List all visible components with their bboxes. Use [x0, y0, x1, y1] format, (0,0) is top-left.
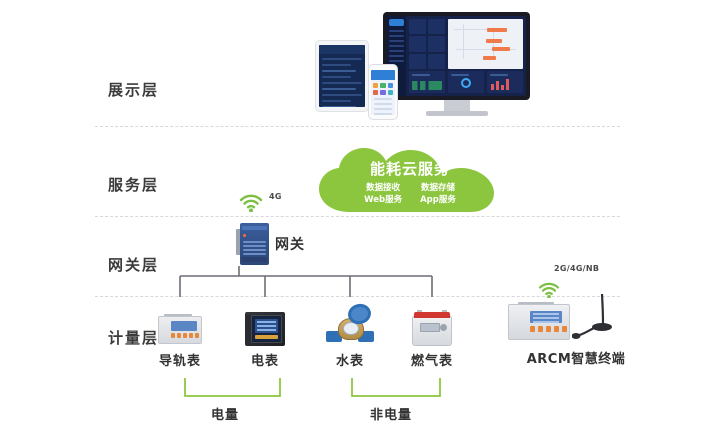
layer-label-service: 服务层 — [108, 178, 198, 193]
dashboard-top-row — [409, 19, 523, 69]
din-rail-meter-icon — [140, 300, 220, 346]
bracket-shapes — [140, 378, 470, 404]
monitor-screen — [387, 16, 526, 96]
meter-label: 水表 — [310, 350, 390, 369]
metering-devices: 导轨表 电表 水表 — [140, 300, 470, 370]
tablet-screen — [319, 45, 365, 107]
display-layer-devices — [305, 12, 540, 120]
smartphone-screen — [371, 70, 395, 115]
gateway-label: 网关 — [275, 234, 305, 254]
dashboard-chart-card — [409, 71, 445, 93]
smartphone-device — [368, 64, 398, 120]
cloud-feature-columns: 数据接收 Web服务 数据存储 App服务 — [364, 183, 456, 205]
meter-item-water: 水表 — [310, 300, 390, 369]
tablet-screen-header — [319, 45, 365, 54]
arcm-terminal-label: ARCM智慧终端 — [496, 348, 656, 367]
panel-electric-meter-icon — [225, 300, 305, 346]
smartphone-app-grid — [371, 80, 395, 98]
monitor-neck — [444, 100, 470, 111]
dashboard-gauge-card — [448, 71, 484, 93]
cloud-feature-column: 数据存储 App服务 — [420, 183, 456, 205]
tablet-device — [315, 40, 369, 112]
meter-item-din-rail: 导轨表 — [140, 300, 220, 369]
gateway-body — [240, 223, 269, 265]
monitor-base — [426, 111, 488, 116]
layer-label-display: 展示层 — [108, 83, 198, 98]
wifi-icon — [538, 282, 560, 298]
layer-separator-2 — [95, 216, 620, 217]
meter-label: 导轨表 — [140, 350, 220, 369]
dashboard-stat-tiles — [409, 19, 445, 69]
bracket-label-electricity: 电量 — [185, 404, 265, 423]
antenna-icon — [572, 286, 618, 342]
cloud-feature-column: 数据接收 Web服务 — [364, 183, 402, 205]
gateway-wireless-label: 4G — [269, 192, 282, 201]
cloud-feature-line: 数据存储 — [421, 183, 455, 194]
gateway-to-meters-connector — [140, 266, 460, 298]
meter-label: 燃气表 — [392, 350, 472, 369]
metering-group-brackets: 电量 非电量 — [140, 378, 470, 423]
cloud-feature-line: 数据接收 — [366, 183, 400, 194]
dashboard-widget-row — [409, 71, 523, 93]
dashboard-map-panel — [448, 19, 523, 69]
arcm-wireless-label: 2G/4G/NB — [554, 264, 599, 273]
gateway-node: 4G 网关 — [233, 190, 353, 270]
tablet-screen-rows — [322, 58, 362, 103]
meter-label: 电表 — [225, 350, 305, 369]
gas-meter-icon — [392, 300, 472, 346]
monitor-bezel — [383, 12, 530, 100]
cloud-title: 能耗云服务 — [370, 162, 450, 177]
water-meter-icon — [310, 300, 390, 346]
arcm-terminal-node: 2G/4G/NB ARCM智慧终端 — [500, 262, 650, 372]
arcm-device-icon — [508, 302, 570, 342]
cloud-feature-line: Web服务 — [364, 195, 402, 206]
wifi-icon — [239, 194, 263, 212]
architecture-diagram: 展示层 服务层 网关层 计量层 — [0, 0, 715, 443]
meter-item-electric: 电表 — [225, 300, 305, 369]
smartphone-list-rows — [371, 98, 395, 115]
gateway-device-icon — [236, 223, 269, 265]
bracket-label-non-electricity: 非电量 — [351, 404, 431, 423]
dashboard-bar-card — [487, 71, 523, 93]
smartphone-screen-header — [371, 70, 395, 80]
dashboard-body — [406, 16, 526, 96]
cloud-feature-line: App服务 — [420, 195, 456, 206]
desktop-monitor-device — [383, 12, 530, 120]
meter-item-gas: 燃气表 — [392, 300, 472, 369]
layer-separator-1 — [95, 126, 620, 127]
